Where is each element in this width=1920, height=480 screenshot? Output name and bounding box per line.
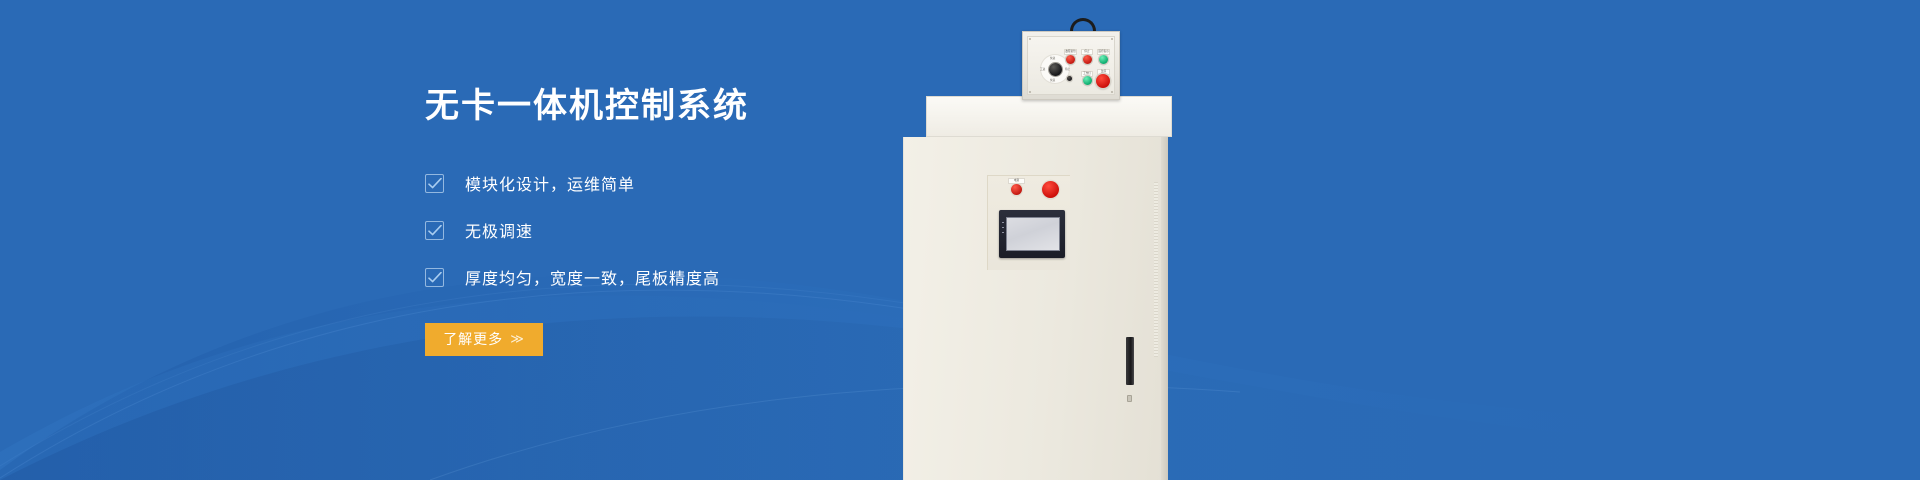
list-item: 厚度均匀，宽度一致，尾板精度高 — [425, 261, 1065, 294]
emergency-stop-button[interactable] — [1096, 74, 1110, 88]
stop-button[interactable] — [1083, 55, 1092, 64]
checkbox-checked-icon — [425, 221, 444, 240]
feature-label: 模块化设计，运维简单 — [465, 171, 635, 195]
rotary-knob-cap[interactable] — [1049, 63, 1062, 76]
list-item: 无极调速 — [425, 214, 1065, 247]
learn-more-button[interactable]: 了解更多 ≫ — [425, 323, 543, 356]
chevron-double-right-icon: ≫ — [510, 331, 525, 347]
dial-label-bottom: 快退 — [1050, 78, 1055, 82]
run-indicator-button[interactable] — [1099, 55, 1108, 64]
feature-list: 模块化设计，运维简单 无极调速 厚度均匀，宽度一致，尾板精度高 — [425, 167, 1065, 294]
feature-label: 厚度均匀，宽度一致，尾板精度高 — [465, 265, 720, 289]
page-title: 无卡一体机控制系统 — [425, 86, 1065, 127]
cabinet-side-edge — [1161, 137, 1168, 480]
cabinet-door-handle[interactable] — [1126, 337, 1134, 385]
dial-label-top: 快进 — [1050, 56, 1055, 60]
work-lamp-button[interactable] — [1083, 76, 1092, 85]
cabinet-ventilation-grille — [1154, 182, 1158, 357]
feature-label: 无极调速 — [465, 218, 533, 242]
panel-screw — [1029, 38, 1031, 40]
mode-knob[interactable] — [1067, 76, 1072, 81]
hero-banner: 无卡一体机控制系统 模块化设计，运维简单 无极调速 — [0, 0, 1920, 480]
panel-screw — [1111, 38, 1113, 40]
dial-label-right: 停止 — [1065, 67, 1070, 71]
learn-more-label: 了解更多 — [443, 329, 503, 349]
dial-label-left: 工进 — [1040, 67, 1045, 71]
list-item: 模块化设计，运维简单 — [425, 167, 1065, 200]
cabinet-door-lock[interactable] — [1127, 395, 1132, 402]
checkbox-checked-icon — [425, 174, 444, 193]
speed-selector-knob[interactable]: 快进 工进 停止 快退 — [1041, 55, 1069, 83]
hero-text-column: 无卡一体机控制系统 模块化设计，运维简单 无极调速 — [425, 86, 1065, 356]
checkbox-checked-icon — [425, 268, 444, 287]
alarm-reset-button[interactable] — [1066, 55, 1075, 64]
panel-screw — [1111, 91, 1113, 93]
